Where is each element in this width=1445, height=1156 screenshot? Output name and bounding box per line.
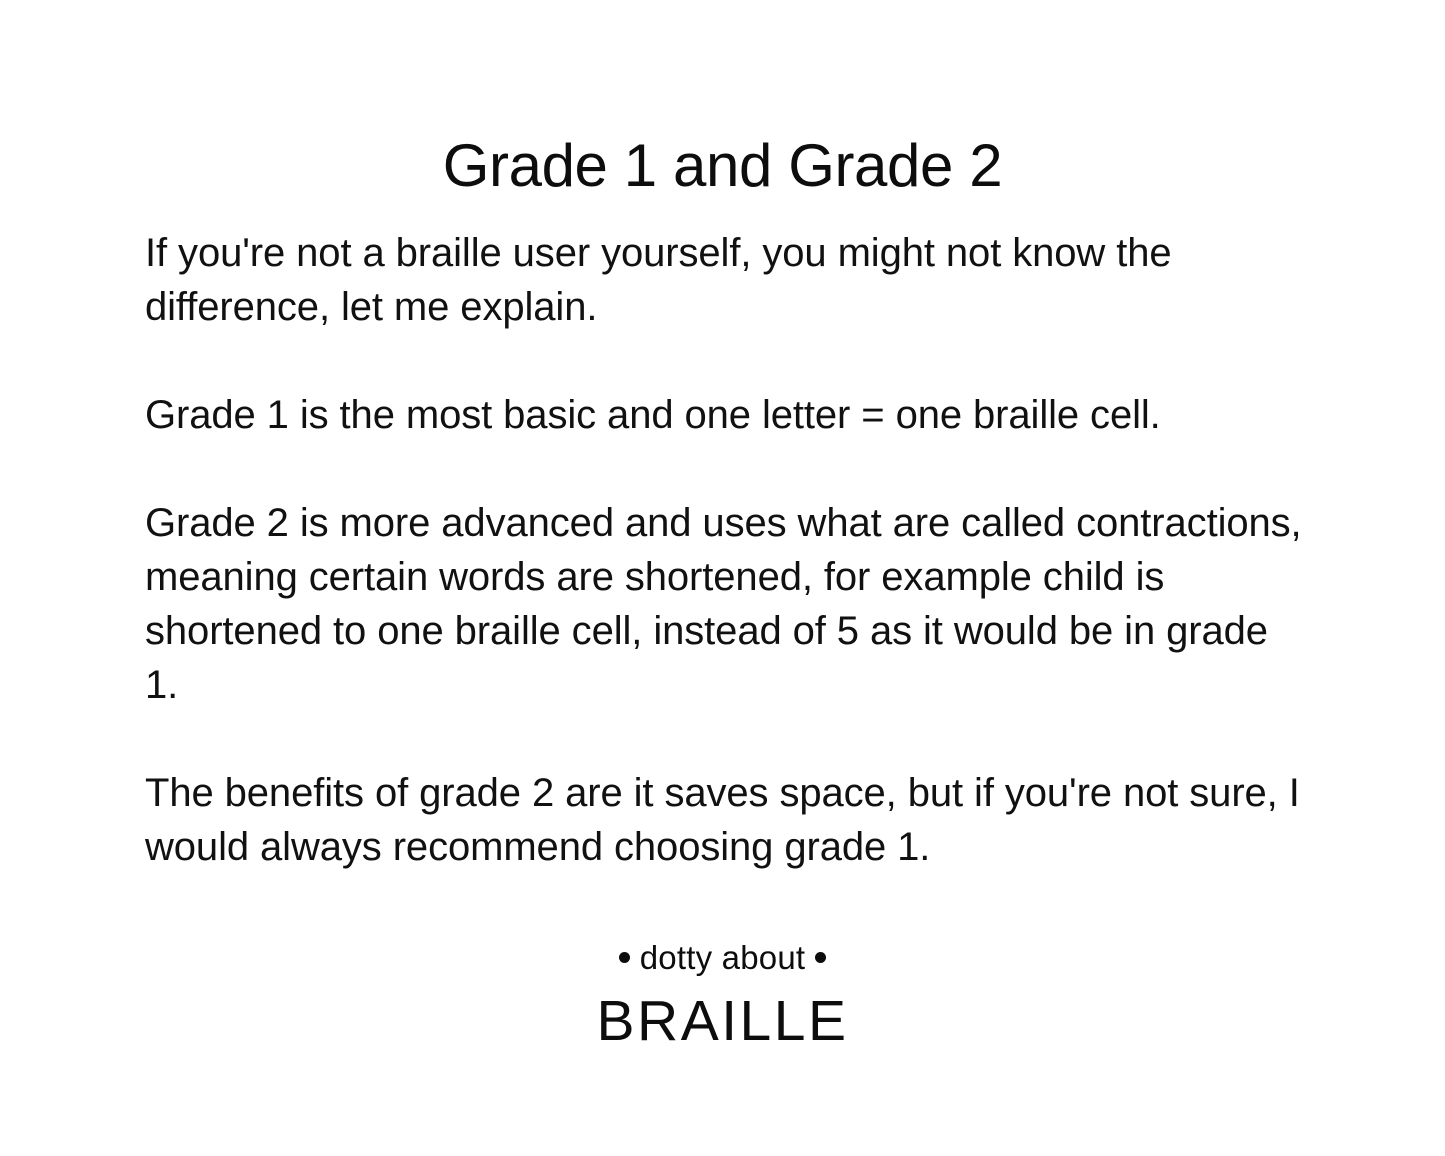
body-copy: If you're not a braille user yourself, y… xyxy=(145,226,1305,874)
brand-lockup: dotty about BRAILLE xyxy=(0,938,1445,1052)
dot-bullet-icon-left xyxy=(619,952,630,963)
paragraph-grade-1: Grade 1 is the most basic and one letter… xyxy=(145,388,1305,442)
brand-tagline-text: dotty about xyxy=(640,939,806,976)
slide-page: Grade 1 and Grade 2 If you're not a brai… xyxy=(0,0,1445,1156)
dot-bullet-icon-right xyxy=(815,952,826,963)
brand-wordmark: BRAILLE xyxy=(0,990,1445,1053)
page-title: Grade 1 and Grade 2 xyxy=(0,132,1445,199)
paragraph-grade-2: Grade 2 is more advanced and uses what a… xyxy=(145,496,1305,712)
paragraph-intro: If you're not a braille user yourself, y… xyxy=(145,226,1305,334)
paragraph-benefits: The benefits of grade 2 are it saves spa… xyxy=(145,766,1305,874)
brand-tagline: dotty about xyxy=(0,938,1445,978)
